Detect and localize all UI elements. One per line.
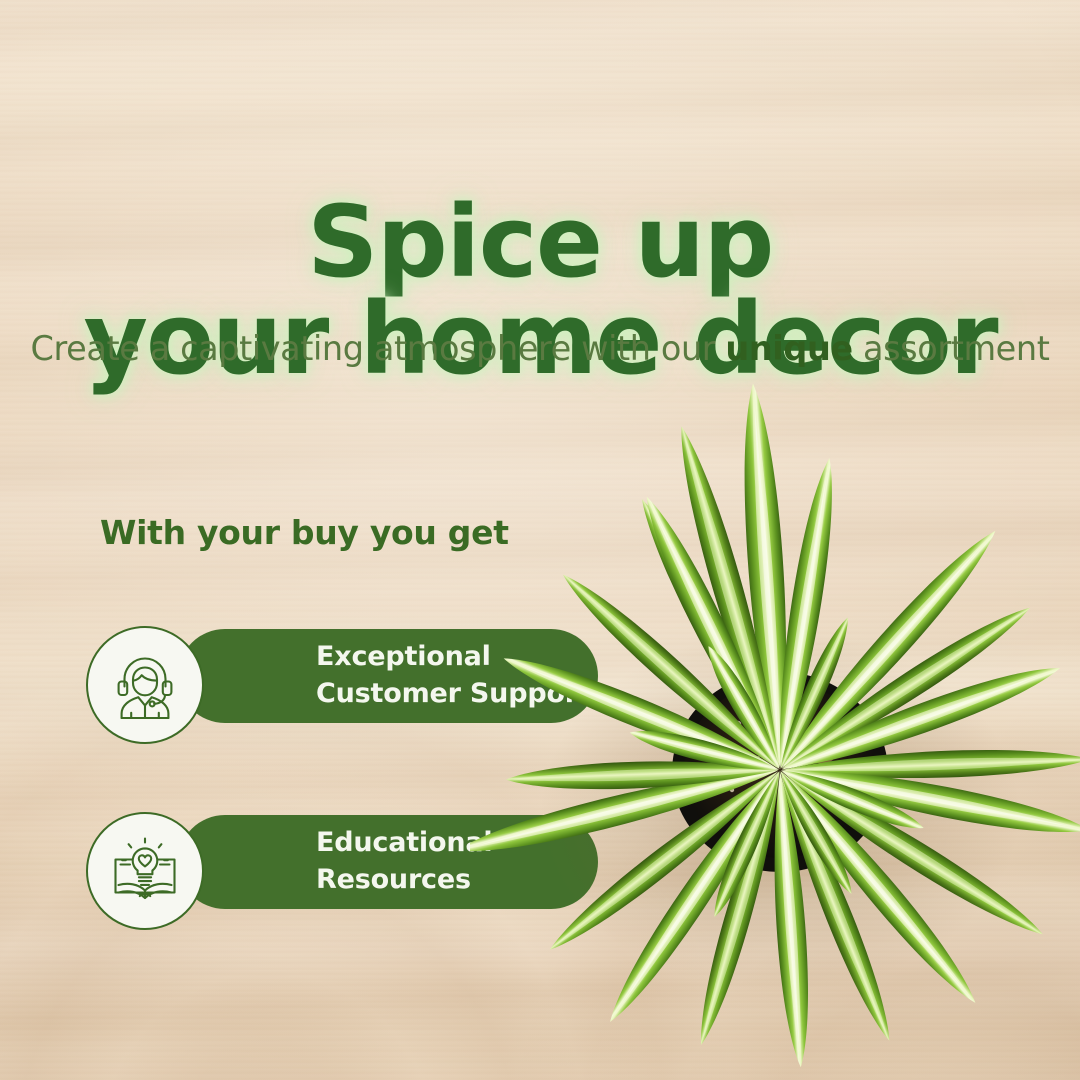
subtitle: Create a captivating atmosphere with our… xyxy=(0,329,1080,368)
list-item[interactable]: Exceptional Customer Support xyxy=(86,626,516,726)
benefits-label: With your buy you get xyxy=(100,513,509,552)
spider-plant-image xyxy=(470,372,1080,1072)
list-item[interactable]: Educational Resources xyxy=(86,812,516,912)
subtitle-emphasis: unique xyxy=(725,329,852,368)
subtitle-after: assortment xyxy=(853,329,1050,368)
spider-plant-illustration xyxy=(470,372,1080,1072)
subtitle-before: Create a captivating atmosphere with our xyxy=(31,329,726,368)
benefit-label: Educational Resources xyxy=(316,825,492,898)
headset-support-agent-icon xyxy=(86,626,204,744)
poster-canvas: Spice up your home decor Create a captiv… xyxy=(0,0,1080,1080)
benefits-list: Exceptional Customer Support xyxy=(86,626,516,912)
open-book-lightbulb-icon xyxy=(86,812,204,930)
